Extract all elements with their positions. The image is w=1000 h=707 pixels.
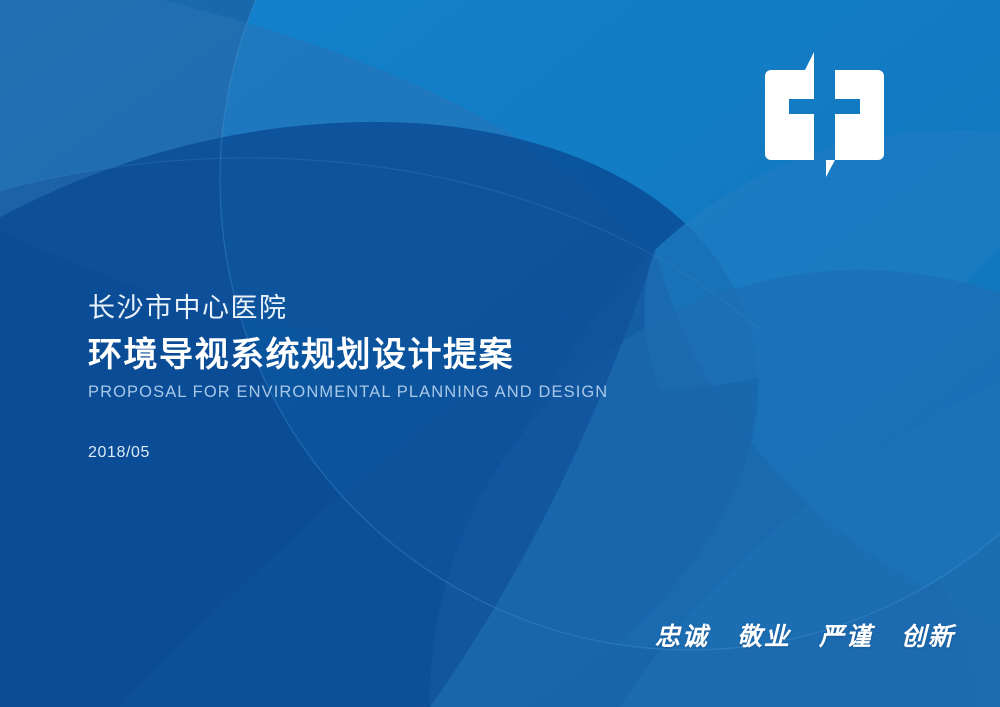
motto-group: 忠诚 敬业 严谨 创新 [655, 610, 955, 660]
motto-word-4: 创新 [901, 617, 955, 653]
organization-name: 长沙市中心医院 [88, 288, 648, 328]
motto-word-2: 敬业 [737, 617, 791, 653]
motto-word-3: 严谨 [819, 617, 873, 653]
date-label: 2018/05 [88, 442, 648, 464]
page-subtitle: PROPOSAL FOR ENVIRONMENTAL PLANNING AND … [88, 380, 648, 404]
page-title: 环境导视系统规划设计提案 [88, 332, 648, 378]
logo-left-bracket [765, 52, 814, 160]
motto-word-1: 忠诚 [655, 617, 709, 653]
hospital-logo-icon [757, 52, 892, 177]
cover-slide: 长沙市中心医院 环境导视系统规划设计提案 PROPOSAL FOR ENVIRO… [0, 0, 1000, 707]
title-block: 长沙市中心医院 环境导视系统规划设计提案 PROPOSAL FOR ENVIRO… [88, 288, 648, 464]
logo-right-bracket [826, 70, 884, 177]
